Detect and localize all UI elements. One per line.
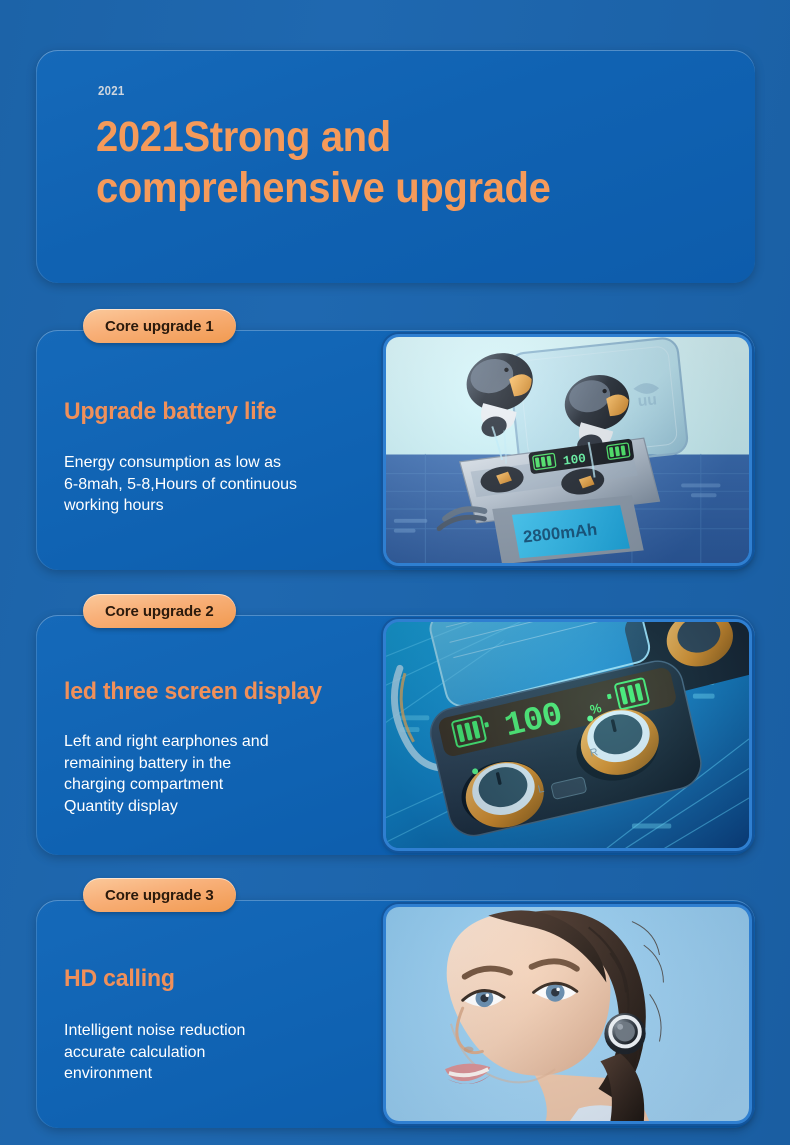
earbuds-charging-case-photo: uu bbox=[383, 334, 752, 566]
card-description-hd-calling: Intelligent noise reduction accurate cal… bbox=[64, 1020, 364, 1085]
led-display-case-photo: 100 % L bbox=[383, 619, 752, 851]
svg-text:100: 100 bbox=[562, 451, 587, 469]
hero-year-label: 2021 bbox=[98, 83, 125, 98]
page-title: 2021Strong and comprehensive upgrade bbox=[96, 112, 654, 214]
woman-wearing-earbud-photo bbox=[383, 904, 752, 1124]
card-title-battery: Upgrade battery life bbox=[64, 398, 277, 426]
hero-banner: 2021 2021Strong and comprehensive upgrad… bbox=[36, 50, 755, 283]
badge-core-upgrade-1: Core upgrade 1 bbox=[83, 309, 236, 343]
svg-text:uu: uu bbox=[637, 391, 658, 410]
badge-core-upgrade-3: Core upgrade 3 bbox=[83, 878, 236, 912]
card-description-led-display: Left and right earphones and remaining b… bbox=[64, 731, 364, 817]
card-description-battery: Energy consumption as low as 6-8mah, 5-8… bbox=[64, 452, 364, 517]
card-title-led-display: led three screen display bbox=[64, 678, 322, 706]
badge-core-upgrade-2: Core upgrade 2 bbox=[83, 594, 236, 628]
card-title-hd-calling: HD calling bbox=[64, 965, 175, 993]
